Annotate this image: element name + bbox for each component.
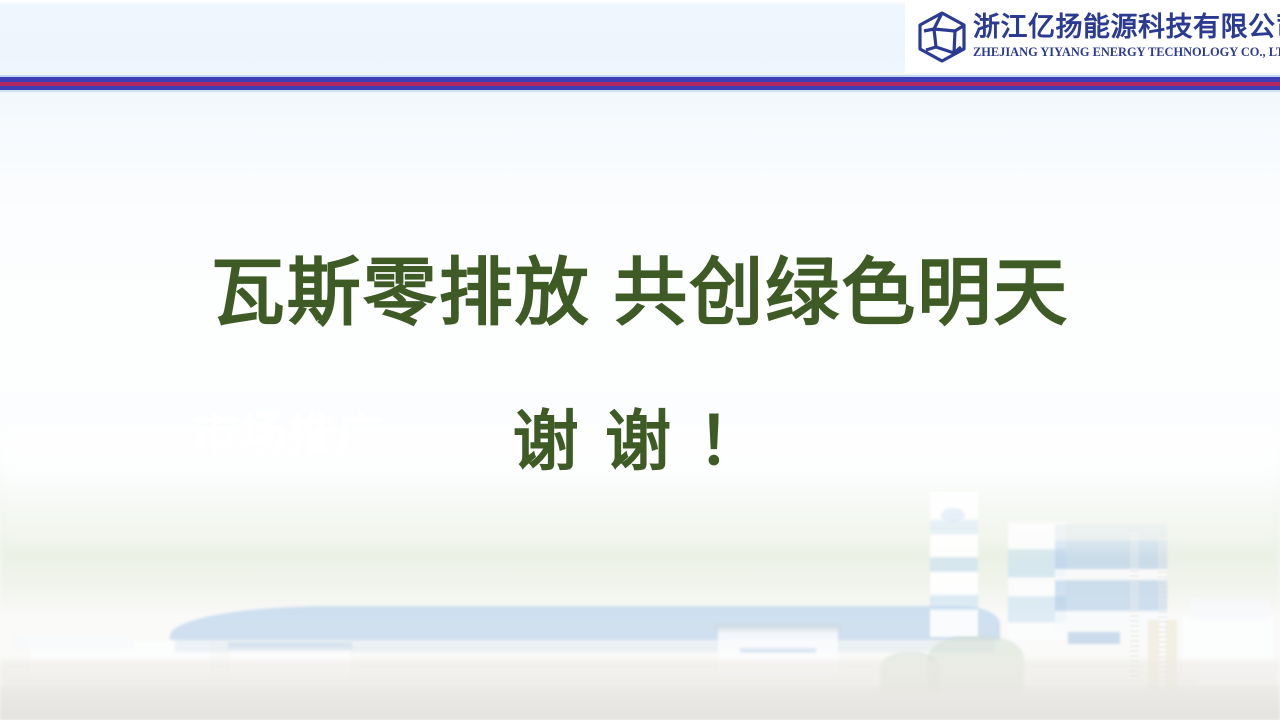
building-block	[1190, 598, 1270, 620]
building-roof	[714, 624, 842, 632]
warehouse-roof	[170, 606, 1000, 640]
building-detail	[740, 648, 816, 653]
thank-you-text: 谢 谢 ！	[0, 404, 1280, 480]
slide-headline: 瓦斯零排放 共创绿色明天	[0, 252, 1280, 335]
company-name-en: ZHEJIANG YIYANG ENERGY TECHNOLOGY CO., L…	[973, 45, 1280, 60]
foreground-yard	[0, 686, 1280, 720]
warehouse-wall	[175, 636, 995, 652]
logo-text-block: 浙江亿扬能源科技有限公司 ZHEJIANG YIYANG ENERGY TECH…	[971, 13, 1280, 59]
background-photo	[0, 0, 1280, 720]
hexagon-crystal-logo-icon	[913, 8, 971, 66]
presentation-slide: 市场推广 瓦斯零排放 共创绿色明天 谢 谢 ！ 浙	[0, 0, 1280, 720]
company-logo-plate: 浙江亿扬能源科技有限公司 ZHEJIANG YIYANG ENERGY TECH…	[905, 0, 1280, 73]
rule-fade	[0, 90, 1280, 92]
company-name-cn: 浙江亿扬能源科技有限公司	[973, 13, 1280, 41]
scaffold	[1130, 530, 1139, 680]
header-divider-rule	[0, 75, 1280, 91]
building-block	[14, 636, 134, 650]
building-roof	[1068, 632, 1120, 644]
